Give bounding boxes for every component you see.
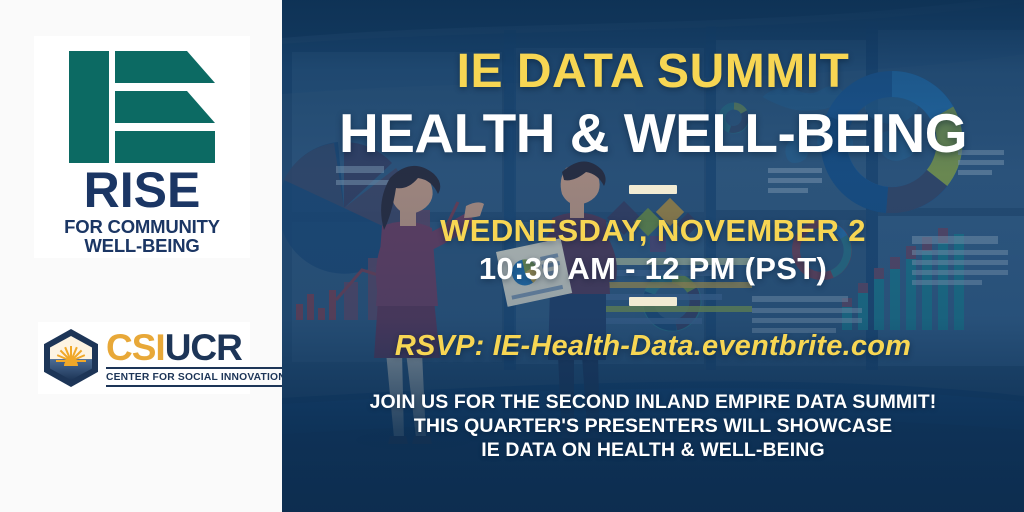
event-time: 10:30 AM - 12 PM (PST)	[282, 252, 1024, 286]
description-line-2: THIS QUARTER'S PRESENTERS WILL SHOWCASE	[282, 414, 1024, 438]
page-title-primary: IE DATA SUMMIT	[282, 47, 1024, 97]
ucr-wordmark: UCR	[165, 327, 242, 368]
csi-sunrise-hex-icon	[44, 329, 98, 387]
divider-rule-bottom	[629, 297, 677, 306]
rsvp-link[interactable]: RSVP: IE-Health-Data.eventbrite.com	[282, 330, 1024, 362]
csi-tagline: CENTER FOR SOCIAL INNOVATION	[106, 371, 286, 383]
poster-panel: IE DATA SUMMIT HEALTH & WELL-BEING WEDNE…	[282, 0, 1024, 512]
rise-tagline-line1: FOR COMMUNITY	[58, 217, 226, 236]
page-title-secondary: HEALTH & WELL-BEING	[282, 104, 1024, 162]
event-flyer: RISE FOR COMMUNITY WELL-BEING	[0, 0, 1024, 512]
csi-divider-lower	[106, 385, 290, 387]
event-description: JOIN US FOR THE SECOND INLAND EMPIRE DAT…	[282, 390, 1024, 462]
logo-sidebar: RISE FOR COMMUNITY WELL-BEING	[0, 0, 282, 512]
divider-rule-top	[629, 185, 677, 194]
rise-wordmark: RISE	[58, 165, 226, 215]
csi-ucr-logo: CSIUCR CENTER FOR SOCIAL INNOVATION	[38, 322, 250, 394]
rise-e-mark-icon	[69, 51, 215, 163]
csi-wordmark: CSI	[106, 327, 165, 368]
rise-logo: RISE FOR COMMUNITY WELL-BEING	[34, 36, 250, 258]
event-date: WEDNESDAY, NOVEMBER 2	[282, 214, 1024, 248]
rise-tagline-line2: WELL-BEING	[58, 236, 226, 255]
description-line-3: IE DATA ON HEALTH & WELL-BEING	[282, 438, 1024, 462]
description-line-1: JOIN US FOR THE SECOND INLAND EMPIRE DAT…	[282, 390, 1024, 414]
